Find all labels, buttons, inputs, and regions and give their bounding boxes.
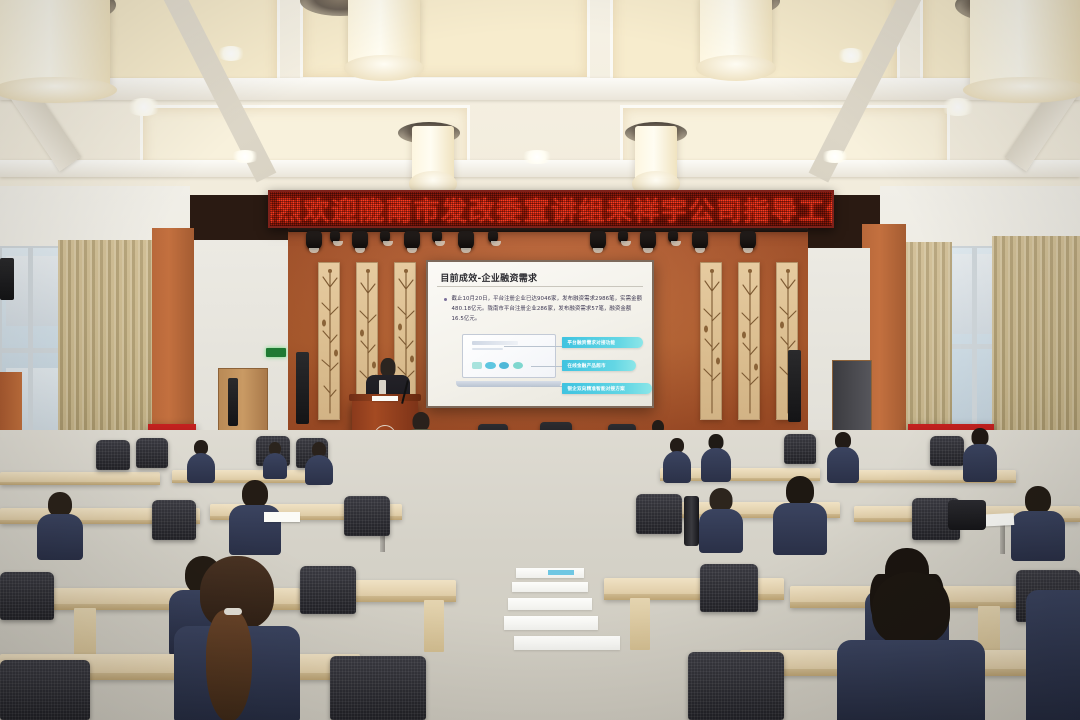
laptop-ui-bar bbox=[472, 341, 518, 345]
head bbox=[786, 476, 814, 506]
audience-chair bbox=[784, 434, 816, 464]
stage-spotlight bbox=[330, 231, 340, 243]
stage-speaker-left bbox=[296, 352, 309, 424]
head bbox=[872, 572, 950, 646]
stage-spotlight bbox=[640, 231, 656, 250]
floor-banner-sheet bbox=[514, 636, 620, 650]
stage-speaker-right bbox=[788, 350, 801, 422]
audience-chair bbox=[636, 494, 682, 534]
torso bbox=[701, 448, 731, 482]
downlight bbox=[230, 150, 260, 163]
audience-desk bbox=[0, 472, 160, 485]
slide-body-text: 截止10月20日，平台注册企业已达9046家，发布融资需求2986笔，实需金额4… bbox=[452, 294, 644, 324]
wall-speaker bbox=[228, 378, 238, 426]
torso bbox=[699, 509, 743, 553]
projection-screen: 目前成效-企业融资需求 截止10月20日，平台注册企业已达9046家，发布融资需… bbox=[426, 260, 654, 408]
torso bbox=[187, 453, 215, 483]
pendant-lamp bbox=[0, 0, 110, 90]
head bbox=[242, 480, 268, 508]
carved-wall-panel bbox=[738, 262, 760, 420]
desk-modesty-panel bbox=[630, 598, 650, 650]
torso bbox=[773, 503, 827, 555]
floor-banner-sheet bbox=[508, 598, 592, 610]
torso bbox=[37, 514, 83, 560]
torso bbox=[305, 455, 333, 485]
foreground-attendee-ponytail bbox=[172, 556, 302, 720]
audience-member bbox=[36, 492, 84, 554]
floor-banner-accent bbox=[548, 570, 574, 575]
branch-motif-icon bbox=[319, 263, 340, 420]
slide-divider bbox=[437, 286, 643, 287]
audience-chair bbox=[344, 496, 390, 536]
audience-chair bbox=[96, 440, 130, 470]
head bbox=[1025, 486, 1051, 514]
stage-spotlight bbox=[306, 231, 322, 250]
desk-modesty-panel bbox=[424, 600, 444, 652]
torso bbox=[837, 640, 985, 720]
hair-tie bbox=[224, 608, 242, 615]
bag bbox=[948, 500, 986, 530]
foreground-attendee-right bbox=[836, 572, 986, 720]
stage-spotlight bbox=[692, 231, 708, 250]
callout-leader-line bbox=[531, 366, 562, 367]
audience-member bbox=[826, 432, 860, 478]
downlight bbox=[820, 150, 850, 163]
audience-chair bbox=[152, 500, 196, 540]
stage-spotlight bbox=[618, 231, 628, 243]
downlight bbox=[520, 150, 554, 164]
foreground-attendee-edge bbox=[1026, 590, 1080, 720]
torso bbox=[963, 444, 997, 482]
ui-tile-icon bbox=[499, 362, 509, 369]
callout-leader-line bbox=[531, 386, 562, 387]
downlight bbox=[836, 48, 866, 63]
podium-notes bbox=[372, 396, 398, 401]
stage-spotlight bbox=[432, 231, 442, 243]
branch-motif-icon bbox=[739, 263, 760, 420]
audience-chair bbox=[300, 566, 356, 614]
floor-banner-sheet bbox=[512, 582, 588, 592]
stage-spotlight bbox=[740, 231, 756, 250]
laptop-ui-icons bbox=[472, 361, 529, 370]
torso bbox=[827, 447, 859, 483]
laptop-ui-bar bbox=[472, 348, 503, 351]
pendant-lamp bbox=[970, 0, 1080, 90]
stage-spotlight bbox=[404, 231, 420, 250]
pendant-lamp bbox=[412, 126, 454, 184]
stage-spotlight bbox=[668, 231, 678, 243]
pendant-lamp bbox=[700, 0, 772, 68]
audience-chair bbox=[930, 436, 964, 466]
ui-tile-icon bbox=[485, 362, 495, 369]
outside-building bbox=[6, 256, 60, 326]
audience-member bbox=[1010, 486, 1066, 556]
stage-spotlight bbox=[380, 231, 390, 243]
slide-bullet-icon bbox=[444, 298, 447, 301]
stage-spotlight bbox=[352, 231, 368, 250]
stage-spotlight bbox=[590, 231, 606, 250]
audience-member bbox=[186, 440, 216, 478]
foreground-chair bbox=[330, 656, 426, 720]
stage-spotlight bbox=[488, 231, 498, 243]
torso bbox=[1011, 511, 1065, 561]
torso bbox=[263, 453, 287, 479]
audience-member bbox=[962, 428, 998, 478]
ceiling-beam bbox=[0, 78, 1080, 100]
audience-member bbox=[772, 476, 828, 548]
pendant-lamp bbox=[348, 0, 420, 68]
stage-spotlight bbox=[458, 231, 474, 250]
downlight bbox=[126, 98, 162, 116]
ui-tile-icon bbox=[472, 362, 482, 369]
torso bbox=[663, 451, 691, 483]
thermos-bottle bbox=[684, 496, 699, 546]
slide-callout: 在线金融产品超市 bbox=[562, 360, 636, 372]
floor-banner-sheet bbox=[504, 616, 598, 630]
foreground-chair bbox=[688, 652, 784, 720]
exit-sign-icon bbox=[266, 348, 286, 357]
audience-member bbox=[700, 434, 732, 478]
conference-hall-photo: 热烈欢迎陇南市发改委宣讲组来祥宇公司指导工作 目前成效-企业融资需求 截止10月… bbox=[0, 0, 1080, 720]
downlight bbox=[940, 98, 976, 116]
slide-callout: 银企双向精准智能对接方案 bbox=[562, 383, 652, 395]
laptop-lid bbox=[462, 334, 556, 378]
audience-member bbox=[262, 442, 288, 476]
audience-member bbox=[662, 438, 692, 478]
led-welcome-banner: 热烈欢迎陇南市发改委宣讲组来祥宇公司指导工作 bbox=[268, 190, 834, 228]
wall-speaker bbox=[0, 258, 14, 300]
audience-member bbox=[698, 488, 744, 548]
callout-leader-line bbox=[504, 346, 562, 347]
carved-wall-panel bbox=[700, 262, 722, 420]
downlight bbox=[216, 46, 246, 61]
audience-member bbox=[304, 442, 334, 480]
branch-motif-icon bbox=[701, 263, 722, 420]
ceiling bbox=[0, 0, 1080, 195]
led-banner-text: 热烈欢迎陇南市发改委宣讲组来祥宇公司指导工作 bbox=[268, 191, 834, 228]
slide-title: 目前成效-企业融资需求 bbox=[440, 271, 537, 284]
desk-edge bbox=[0, 482, 160, 485]
carved-wall-panel bbox=[318, 262, 340, 420]
torso bbox=[1026, 590, 1080, 720]
window-mullion bbox=[2, 348, 64, 353]
slide-callout: 平台融资需求对接功能 bbox=[562, 337, 643, 349]
desk-paper bbox=[264, 512, 300, 522]
ponytail-hair bbox=[206, 610, 252, 720]
audience-chair bbox=[700, 564, 758, 612]
foreground-chair bbox=[0, 660, 90, 720]
audience-chair bbox=[0, 572, 54, 620]
audience-chair bbox=[136, 438, 168, 468]
ui-tile-icon bbox=[513, 362, 523, 369]
slide-laptop-graphic bbox=[462, 334, 556, 387]
pendant-lamp bbox=[635, 126, 677, 184]
